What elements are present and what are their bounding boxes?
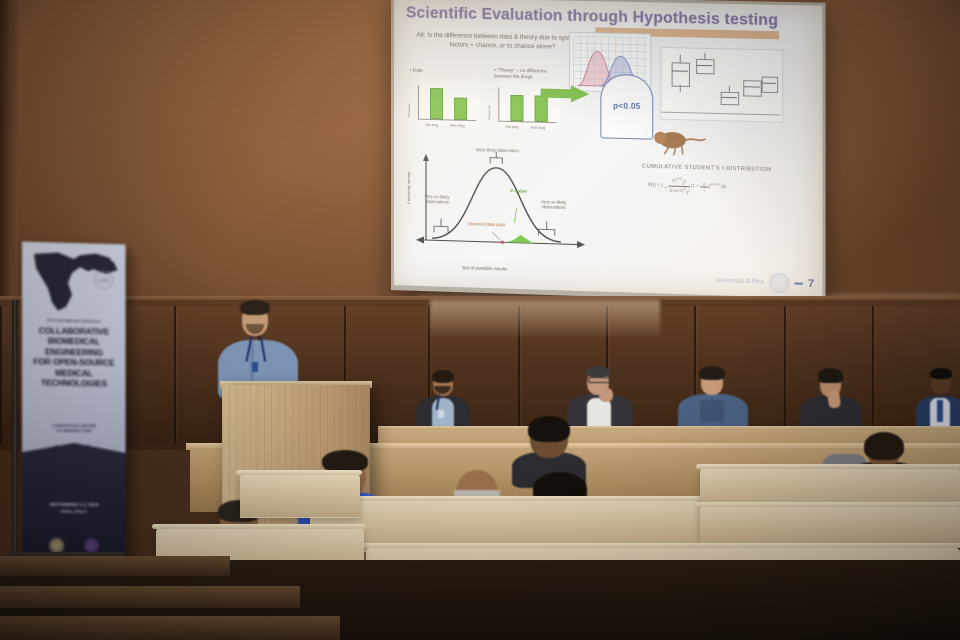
slide-page-number: 7 (808, 278, 814, 290)
bench-row-left-back-edge (236, 470, 362, 475)
bar-theory-old (510, 95, 523, 121)
slide-footer-org: Università di Pisa (716, 278, 764, 286)
banner-logos (22, 538, 126, 553)
student-t-formula: P(t) = ∫ -∞ Γ(ν+1⁄2) √(νπ) Γ(ν⁄2) (1 + x… (648, 176, 726, 196)
wall-light-spill (430, 300, 660, 340)
slide-question: Alt: Is the difference between data & th… (412, 30, 593, 52)
bar-label-3: New drug (531, 125, 546, 129)
step-upper (0, 556, 230, 576)
bar-old-drug (430, 88, 443, 119)
bench-row-left-front-edge (152, 524, 366, 529)
bench-row-right-mid-edge (696, 502, 960, 507)
step-lower (0, 616, 340, 640)
panelist-5 (916, 368, 960, 432)
tombstone-graphic: p<0.05 (600, 74, 653, 140)
bullet-theory: • "Theory" = no difference between the d… (494, 67, 561, 81)
bullet-data: • Data (410, 67, 423, 72)
bell-observed-note: Observed data point (466, 221, 506, 228)
step-mid (0, 586, 300, 608)
chart-ylabel: Response (407, 103, 411, 117)
bell-right-note: Very un-likely observations (533, 199, 575, 211)
bell-xlabel: Set of possible results (462, 265, 507, 271)
banner-dark-panel: SEPTEMBER 1-2, 2018 PISA, ITALY Universi… (22, 443, 126, 562)
unipi-logo-icon (49, 538, 64, 553)
banner-pre-title: First International Conference (22, 318, 126, 324)
bench-row-3-edge (306, 496, 704, 501)
bench-row-2-edge (362, 543, 960, 548)
tombstone-pvalue: p<0.05 (601, 101, 652, 111)
bench-row-right-back-edge (696, 464, 960, 469)
bar-label-0: Old drug (425, 123, 438, 127)
panelist-4 (798, 368, 864, 432)
slide-footer: Università di Pisa 7 (716, 271, 814, 294)
chart-ylabel-2: Response (487, 105, 491, 119)
bar-label-1: New drug (450, 123, 465, 127)
bench-row-left-back (240, 474, 360, 518)
world-map-icon: CBE (28, 248, 120, 316)
boxplot-panel (660, 47, 783, 123)
banner-venue: CONVENTION CENTRE "LE BENEDETTINE" (22, 422, 126, 434)
banner-title: COLLABORATIVE BIOMEDICAL ENGINEERING FOR… (22, 325, 126, 390)
banner-date: SEPTEMBER 1-2, 2018 PISA, ITALY (22, 502, 126, 515)
projected-slide: Scientific Evaluation through Hypothesis… (394, 0, 822, 299)
projection-screen-frame: Scientific Evaluation through Hypothesis… (391, 0, 826, 304)
bell-left-note: Very un-likely observations (416, 194, 458, 206)
svg-text:CBE: CBE (98, 279, 110, 285)
bench-row-right-mid (700, 506, 960, 546)
banner-pole (12, 300, 18, 562)
formula-heading: CUMULATIVE STUDENT'S t DISTRIBUTION (642, 164, 771, 174)
bar-label-2: Old drug (505, 125, 518, 129)
bell-curve-figure: Probability density (404, 147, 626, 272)
dead-rat-icon (648, 125, 707, 157)
bar-new-drug (454, 98, 467, 120)
panelist-3 (676, 366, 750, 432)
conference-photo-scene: Scientific Evaluation through Hypothesis… (0, 0, 960, 640)
secondary-logo-icon (84, 538, 99, 553)
data-bar-chart: Response Old drug New drug (418, 78, 480, 128)
university-seal-icon (769, 272, 790, 293)
green-arrow-icon (541, 85, 590, 103)
page-dash (794, 283, 802, 285)
panelist-1 (412, 370, 474, 432)
bell-pvalue-label: P-value (510, 188, 526, 193)
conference-rollup-banner: CBE First International Conference COLLA… (22, 242, 126, 562)
